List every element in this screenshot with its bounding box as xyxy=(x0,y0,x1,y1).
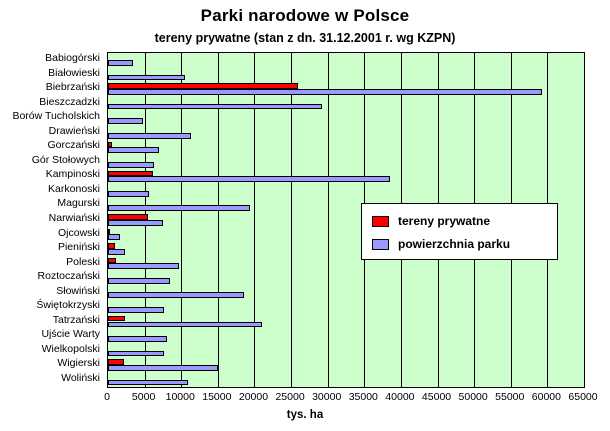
bar-powierzchnia-parku xyxy=(108,104,322,110)
x-tick-label: 0 xyxy=(104,391,110,403)
y-tick-label: Wigierski xyxy=(57,358,100,369)
x-tick-label: 50000 xyxy=(459,391,488,403)
bar-powierzchnia-parku xyxy=(108,220,163,226)
bar-tereny-prywatne xyxy=(108,171,153,177)
legend-item-powierzchnia-parku: powierzchnia parku xyxy=(372,235,510,253)
y-tick-label: Tatrzański xyxy=(53,315,100,326)
x-tick-label: 20000 xyxy=(239,391,268,403)
x-tick-label: 35000 xyxy=(349,391,378,403)
y-tick-label: Babiogórski xyxy=(45,53,100,64)
bar-tereny-prywatne xyxy=(108,359,124,365)
legend-swatch-powierzchnia-parku xyxy=(372,239,389,250)
bar-powierzchnia-parku xyxy=(108,249,125,255)
bar-powierzchnia-parku xyxy=(108,380,188,386)
chart-container: Parki narodowe w Polsce tereny prywatne … xyxy=(0,0,610,431)
y-tick-label: Poleski xyxy=(66,257,100,268)
gridline xyxy=(584,53,585,387)
y-tick-label: Ojcowski xyxy=(58,228,100,239)
y-tick-label: Słowiński xyxy=(56,286,100,297)
chart-subtitle: tereny prywatne (stan z dn. 31.12.2001 r… xyxy=(0,31,610,45)
y-axis-labels: BabiogórskiBiałowieskiBiebrzańskiBieszcz… xyxy=(0,52,104,388)
bar-powierzchnia-parku xyxy=(108,176,390,182)
chart-legend: tereny prywatne powierzchnia parku xyxy=(361,203,558,260)
x-tick-label: 40000 xyxy=(385,391,414,403)
x-tick-label: 25000 xyxy=(275,391,304,403)
y-tick-label: Ujście Warty xyxy=(41,329,100,340)
y-tick-label: Pieniński xyxy=(58,242,100,253)
x-tick-label: 15000 xyxy=(202,391,231,403)
bar-tereny-prywatne xyxy=(108,316,125,322)
bar-powierzchnia-parku xyxy=(108,118,143,124)
bar-powierzchnia-parku xyxy=(108,307,164,313)
y-tick-label: Magurski xyxy=(57,198,100,209)
y-tick-label: Drawieński xyxy=(49,126,100,137)
bar-powierzchnia-parku xyxy=(108,292,244,298)
y-tick-label: Świętokrzyski xyxy=(36,300,100,311)
bar-powierzchnia-parku xyxy=(108,336,167,342)
bar-powierzchnia-parku xyxy=(108,234,120,240)
y-tick-label: Borów Tucholskich xyxy=(12,111,100,122)
bar-powierzchnia-parku xyxy=(108,133,191,139)
bar-powierzchnia-parku xyxy=(108,205,250,211)
bar-powierzchnia-parku xyxy=(108,89,542,95)
bar-powierzchnia-parku xyxy=(108,365,218,371)
legend-label-tereny-prywatne: tereny prywatne xyxy=(398,214,490,228)
bar-powierzchnia-parku xyxy=(108,162,154,168)
y-tick-label: Gór Stołowych xyxy=(32,155,100,166)
bar-powierzchnia-parku xyxy=(108,263,179,269)
bar-powierzchnia-parku xyxy=(108,75,185,81)
bar-powierzchnia-parku xyxy=(108,191,149,197)
y-tick-label: Białowieski xyxy=(48,68,100,79)
bar-tereny-prywatne xyxy=(108,229,110,235)
x-tick-label: 55000 xyxy=(495,391,524,403)
bar-tereny-prywatne xyxy=(108,142,112,148)
x-tick-label: 65000 xyxy=(568,391,597,403)
y-tick-label: Wielkopolski xyxy=(42,344,100,355)
x-tick-label: 30000 xyxy=(312,391,341,403)
bar-powierzchnia-parku xyxy=(108,278,170,284)
y-tick-label: Woliński xyxy=(61,373,100,384)
y-tick-label: Roztoczański xyxy=(38,271,100,282)
bar-powierzchnia-parku xyxy=(108,147,159,153)
bar-tereny-prywatne xyxy=(108,243,115,249)
bar-powierzchnia-parku xyxy=(108,351,164,357)
y-tick-label: Narwiański xyxy=(49,213,100,224)
y-tick-label: Karkonoski xyxy=(48,184,100,195)
bar-tereny-prywatne xyxy=(108,83,298,89)
bar-powierzchnia-parku xyxy=(108,60,133,66)
y-tick-label: Kampinoski xyxy=(46,169,100,180)
x-tick-label: 5000 xyxy=(132,391,155,403)
x-tick-label: 10000 xyxy=(166,391,195,403)
bar-powierzchnia-parku xyxy=(108,322,262,328)
legend-swatch-tereny-prywatne xyxy=(372,216,389,227)
x-tick-label: 45000 xyxy=(422,391,451,403)
chart-title: Parki narodowe w Polsce xyxy=(0,6,610,26)
bar-tereny-prywatne xyxy=(108,258,116,264)
x-axis-title: tys. ha xyxy=(0,409,610,421)
legend-label-powierzchnia-parku: powierzchnia parku xyxy=(398,237,510,251)
y-tick-label: Gorczański xyxy=(47,140,100,151)
bar-tereny-prywatne xyxy=(108,214,148,220)
y-tick-label: Bieszczadzki xyxy=(39,97,100,108)
legend-item-tereny-prywatne: tereny prywatne xyxy=(372,212,490,230)
x-axis-labels: 0500010000150002000025000300003500040000… xyxy=(0,391,610,407)
y-tick-label: Biebrzański xyxy=(46,82,100,93)
x-tick-label: 60000 xyxy=(532,391,561,403)
